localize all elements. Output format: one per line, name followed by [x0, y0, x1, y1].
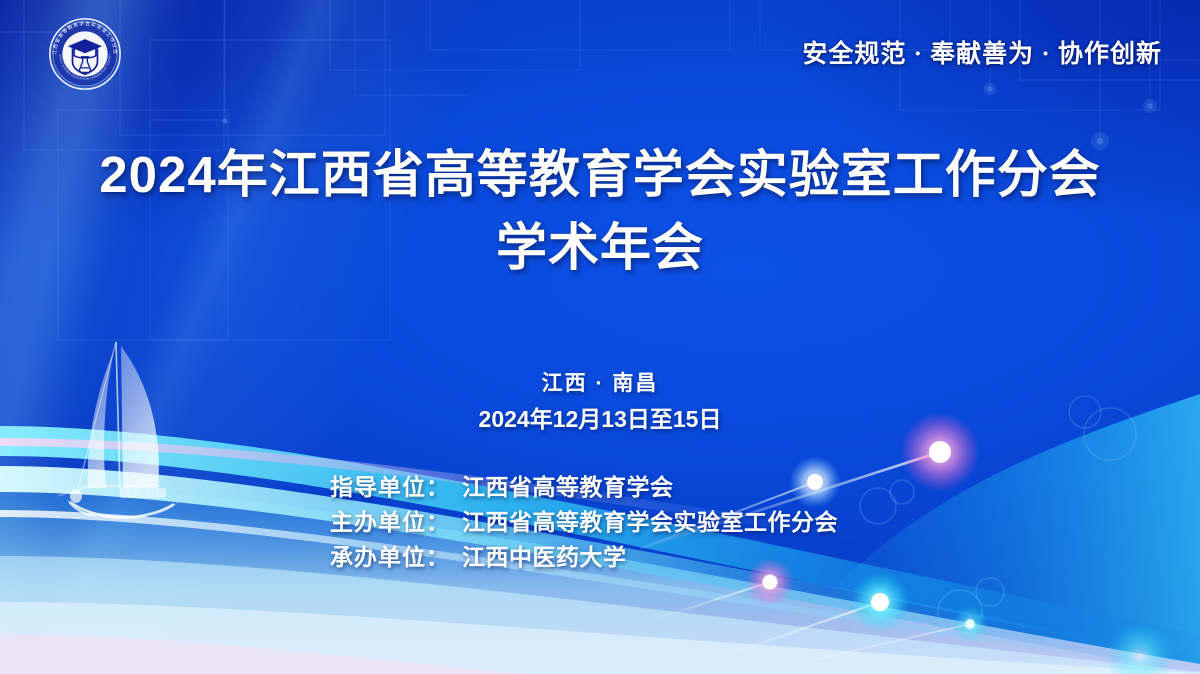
- title-line-2: 学术年会: [0, 211, 1200, 284]
- organizer-row-undertaker: 承办单位： 江西中医药大学: [330, 540, 838, 575]
- conference-banner: 江西省高等教育学会实验室工作分会 JIANGXI HIGHER EDUCATIO…: [0, 0, 1200, 674]
- slogan-text: 安全规范 · 奉献善为 · 协作创新: [802, 34, 1162, 70]
- title-line-1: 2024年江西省高等教育学会实验室工作分会: [0, 138, 1200, 211]
- organizer-value: 江西省高等教育学会: [462, 470, 674, 505]
- organizer-label: 承办单位：: [330, 540, 450, 575]
- event-date: 2024年12月13日至15日: [0, 400, 1200, 434]
- page-title: 2024年江西省高等教育学会实验室工作分会 学术年会: [0, 138, 1200, 284]
- society-logo: 江西省高等教育学会实验室工作分会 JIANGXI HIGHER EDUCATIO…: [46, 15, 124, 93]
- organizer-label: 主办单位：: [330, 505, 450, 540]
- organizer-row-guidance: 指导单位： 江西省高等教育学会: [330, 470, 838, 505]
- event-location: 江西 · 南昌: [0, 367, 1200, 397]
- organizer-label: 指导单位：: [330, 470, 450, 505]
- organizer-value: 江西中医药大学: [462, 540, 627, 575]
- organizer-row-host: 主办单位： 江西省高等教育学会实验室工作分会: [330, 505, 838, 540]
- organizer-list: 指导单位： 江西省高等教育学会 主办单位： 江西省高等教育学会实验室工作分会 承…: [330, 470, 838, 575]
- organizer-value: 江西省高等教育学会实验室工作分会: [462, 505, 838, 540]
